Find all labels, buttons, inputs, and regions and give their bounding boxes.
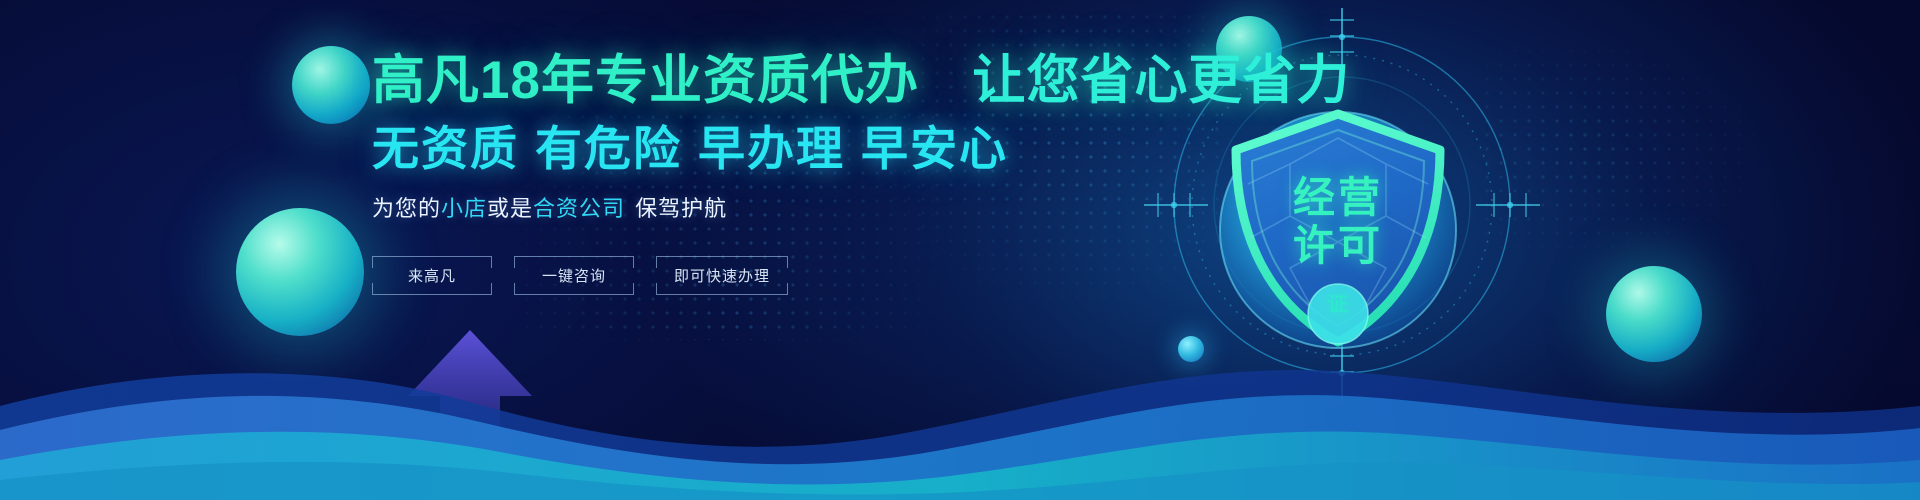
subheadline-word-2: 有危险	[535, 122, 682, 175]
subheadline: 无资质有危险早办理早安心	[372, 125, 1202, 172]
subheadline-word-4: 早安心	[861, 122, 1008, 175]
tagline-part-3: 或是	[487, 196, 533, 221]
tag-chip-3[interactable]: 即可快速办理	[656, 256, 788, 295]
orb-decoration	[292, 46, 370, 124]
tagline-part-5: 保驾护航	[635, 196, 727, 221]
tag-row: 来高凡 一键咨询 即可快速办理	[372, 256, 1202, 295]
tag-chip-1[interactable]: 来高凡	[372, 256, 492, 295]
tagline-part-1: 为您的	[372, 196, 441, 221]
tag-chip-2[interactable]: 一键咨询	[514, 256, 634, 295]
subheadline-word-3: 早办理	[698, 122, 845, 175]
tagline: 为您的小店或是合资公司保驾护航	[372, 198, 1202, 220]
subheadline-word-1: 无资质	[372, 122, 519, 175]
banner-copy: 高凡18年专业资质代办 让您省心更省力 无资质有危险早办理早安心 为您的小店或是…	[372, 54, 1202, 295]
headline: 高凡18年专业资质代办 让您省心更省力	[372, 54, 1202, 107]
tagline-part-2: 小店	[441, 196, 487, 221]
headline-part-2: 让您省心更省力	[972, 51, 1350, 110]
wave-decoration	[0, 310, 1920, 500]
promo-banner: 经营 许可 证	[0, 0, 1920, 500]
headline-part-1: 高凡18年专业资质代办	[372, 51, 919, 110]
tagline-part-4: 合资公司	[533, 196, 625, 221]
